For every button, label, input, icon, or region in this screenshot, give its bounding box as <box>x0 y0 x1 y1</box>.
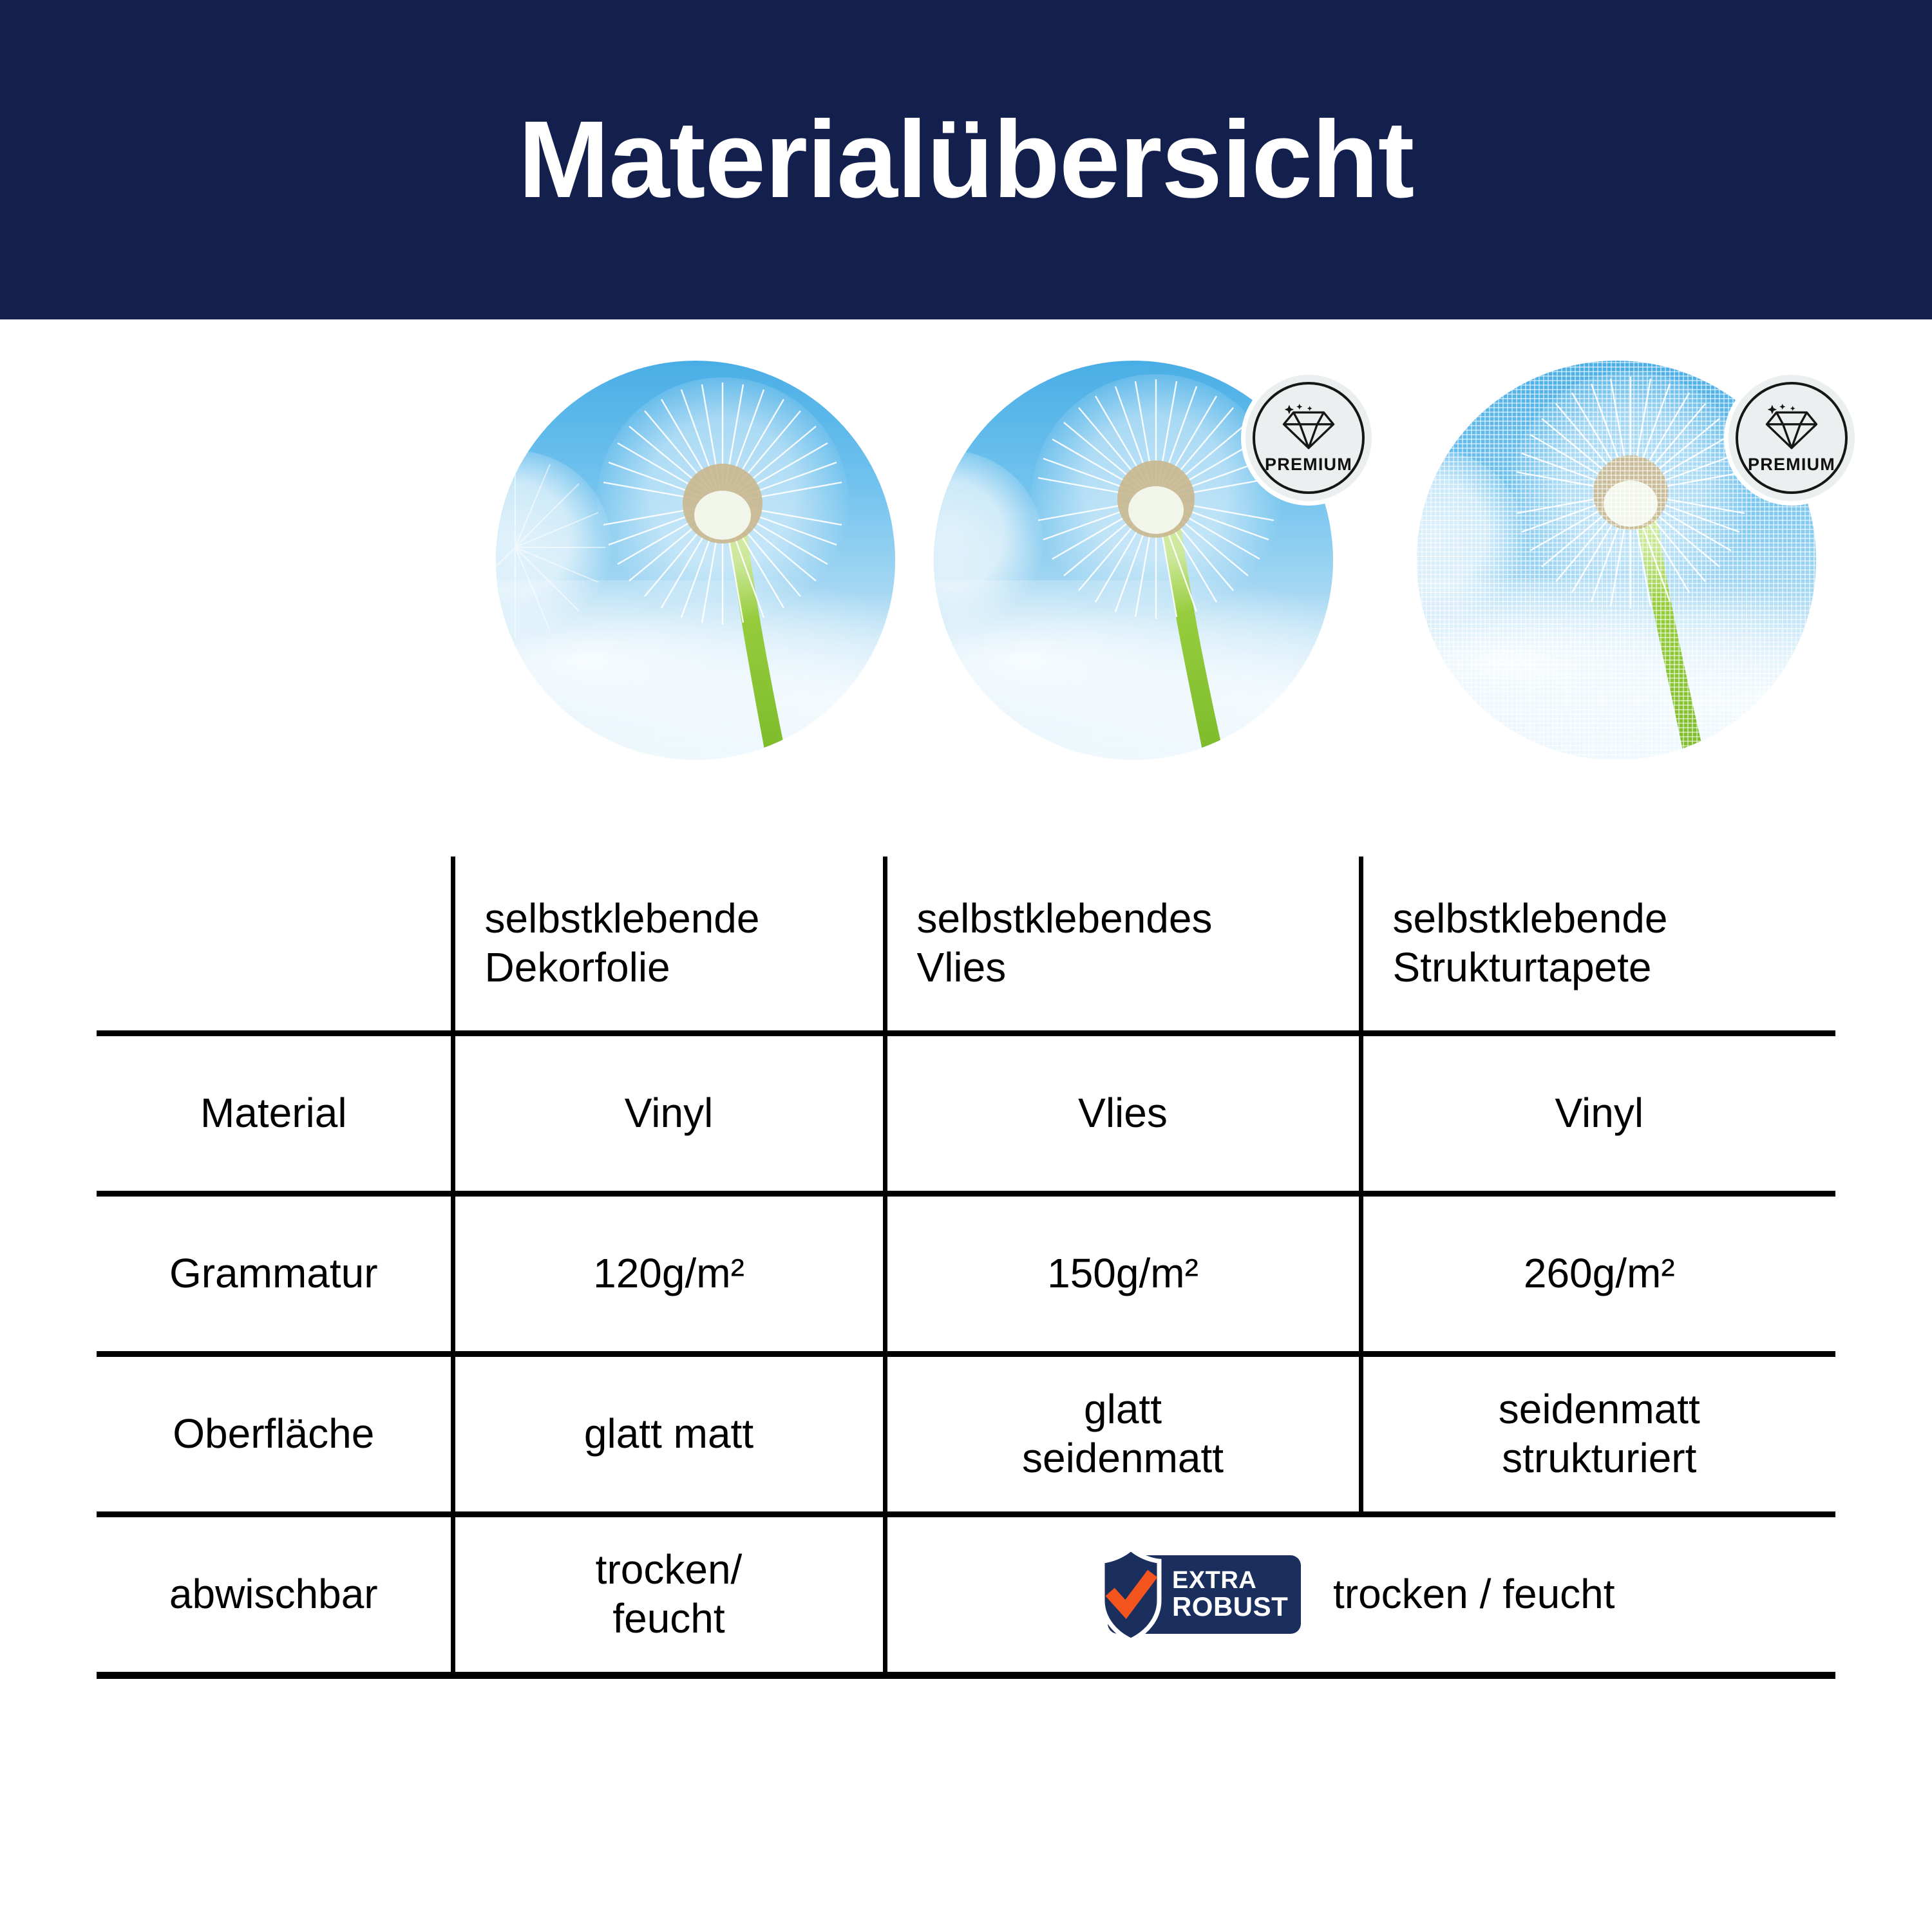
cell-line1: glatt matt <box>462 1410 876 1459</box>
column-header-line1: selbstklebende <box>1393 895 1830 943</box>
cell-line2: seidenmatt <box>894 1434 1352 1483</box>
header-corner-cell <box>97 857 453 1034</box>
dandelion-illustration <box>496 361 895 760</box>
cell-grammatur-vlies: 150g/m² <box>885 1194 1361 1354</box>
merged-cell-content: EXTRA ROBUST trocken / feucht <box>894 1555 1830 1634</box>
material-overview-infographic: Materialübersicht <box>0 0 1932 1932</box>
column-header-line1: selbstklebende <box>485 895 876 943</box>
cell-grammatur-strukturtapete: 260g/m² <box>1361 1194 1835 1354</box>
sample-dekorfolie[interactable] <box>496 361 895 760</box>
extra-robust-badge: EXTRA ROBUST <box>1108 1555 1301 1634</box>
column-header-line1: selbstklebendes <box>917 895 1352 943</box>
row-label-material: Material <box>97 1034 453 1194</box>
table-row-abwischbar: abwischbar trocken/ feucht <box>97 1515 1835 1676</box>
cell-oberflaeche-vlies: glatt seidenmatt <box>885 1354 1361 1515</box>
cell-material-vlies: Vlies <box>885 1034 1361 1194</box>
row-label-abwischbar: abwischbar <box>97 1515 453 1676</box>
sample-vlies[interactable]: PREMIUM <box>934 361 1333 760</box>
cell-material-dekorfolie: Vinyl <box>453 1034 885 1194</box>
sample-disc-1 <box>496 361 895 760</box>
extra-robust-line2: ROBUST <box>1172 1593 1288 1621</box>
column-header-line2: Dekorfolie <box>485 943 876 992</box>
header-band: Materialübersicht <box>0 0 1932 319</box>
extra-robust-text: EXTRA ROBUST <box>1172 1568 1288 1621</box>
premium-badge-label: PREMIUM <box>1748 455 1835 475</box>
shield-check-icon <box>1097 1545 1164 1644</box>
column-header-strukturtapete: selbstklebende Strukturtapete <box>1361 857 1835 1034</box>
cell-line1: trocken/ <box>462 1546 876 1595</box>
premium-badge-label: PREMIUM <box>1265 455 1352 475</box>
premium-badge-inner: PREMIUM <box>1253 382 1365 494</box>
cell-line1: glatt <box>894 1385 1352 1434</box>
cell-material-strukturtapete: Vinyl <box>1361 1034 1835 1194</box>
cell-line2: feucht <box>462 1595 876 1643</box>
row-label-oberflaeche: Oberfläche <box>97 1354 453 1515</box>
table-header-row: selbstklebende Dekorfolie selbstklebende… <box>97 857 1835 1034</box>
column-header-dekorfolie: selbstklebende Dekorfolie <box>453 857 885 1034</box>
premium-badge-inner: PREMIUM <box>1736 382 1848 494</box>
table-row-oberflaeche: Oberfläche glatt matt glatt seidenmatt s… <box>97 1354 1835 1515</box>
table-row-grammatur: Grammatur 120g/m² 150g/m² 260g/m² <box>97 1194 1835 1354</box>
premium-badge: PREMIUM <box>1728 375 1855 501</box>
cell-oberflaeche-dekorfolie: glatt matt <box>453 1354 885 1515</box>
premium-badge: PREMIUM <box>1245 375 1372 501</box>
cell-abwischbar-dekorfolie: trocken/ feucht <box>453 1515 885 1676</box>
column-header-vlies: selbstklebendes Vlies <box>885 857 1361 1034</box>
column-header-line2: Strukturtapete <box>1393 943 1830 992</box>
sample-image-row: PREMIUM <box>0 341 1932 779</box>
table-row-material: Material Vinyl Vlies Vinyl <box>97 1034 1835 1194</box>
cell-grammatur-dekorfolie: 120g/m² <box>453 1194 885 1354</box>
column-header-line2: Vlies <box>917 943 1352 992</box>
cell-line1: seidenmatt <box>1370 1385 1830 1434</box>
cell-abwischbar-merged: EXTRA ROBUST trocken / feucht <box>885 1515 1835 1676</box>
extra-robust-line1: EXTRA <box>1172 1568 1288 1593</box>
sample-strukturtapete[interactable]: PREMIUM <box>1417 361 1816 760</box>
material-spec-table: selbstklebende Dekorfolie selbstklebende… <box>97 857 1835 1679</box>
page-title: Materialübersicht <box>518 105 1414 214</box>
cell-line2: strukturiert <box>1370 1434 1830 1483</box>
row-label-grammatur: Grammatur <box>97 1194 453 1354</box>
cell-abwischbar-merged-text: trocken / feucht <box>1333 1570 1615 1619</box>
diamond-icon <box>1765 404 1819 450</box>
diamond-icon <box>1282 404 1336 450</box>
cell-oberflaeche-strukturtapete: seidenmatt strukturiert <box>1361 1354 1835 1515</box>
